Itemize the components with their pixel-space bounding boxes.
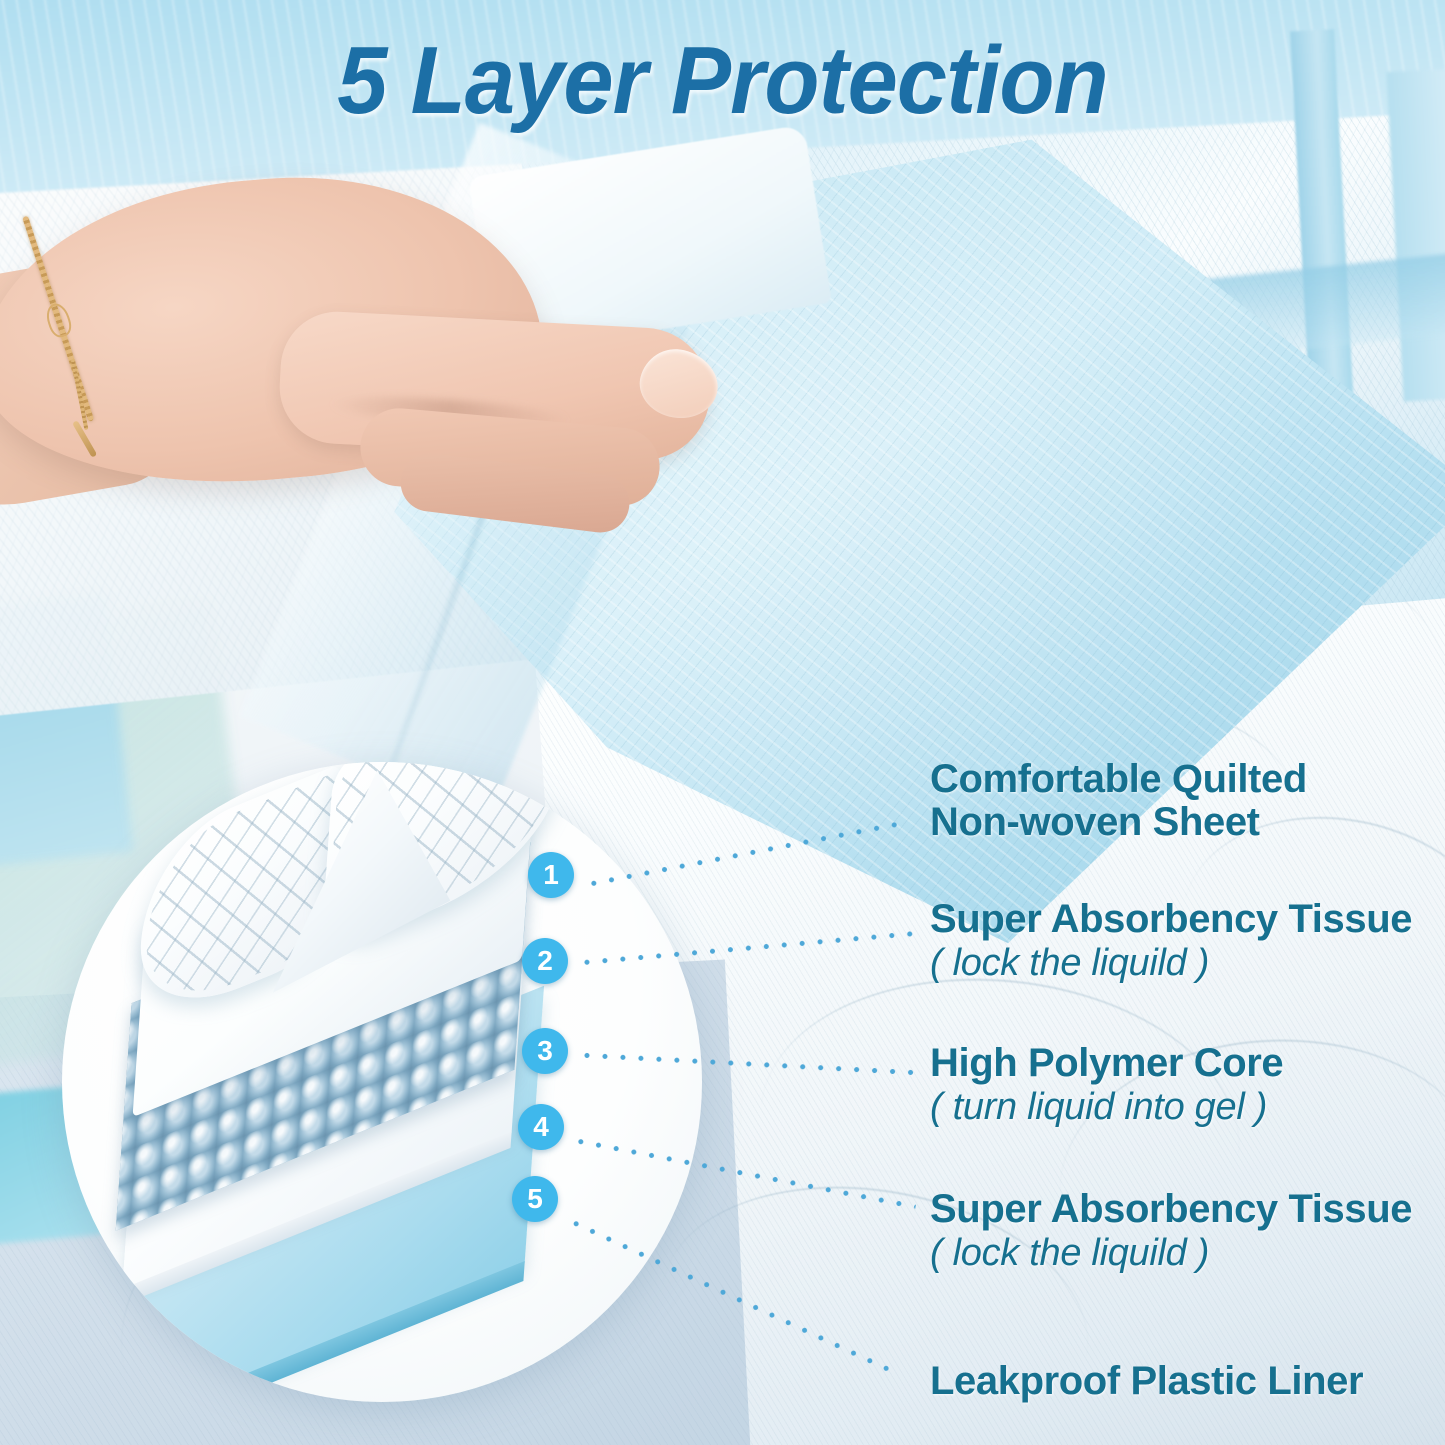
hand-holding-pad — [0, 150, 780, 570]
diamond-quilt-texture — [141, 772, 337, 1022]
layer-label-2-title: Super Absorbency Tissue — [930, 898, 1445, 941]
layer-label-4: Super Absorbency Tissue ( lock the liqui… — [930, 1188, 1445, 1276]
layer-label-column: Comfortable Quilted Non-woven Sheet Supe… — [930, 0, 1445, 1445]
layer-label-4-title: Super Absorbency Tissue — [930, 1188, 1445, 1231]
layer-label-4-subtitle: ( lock the liquild ) — [930, 1231, 1445, 1276]
layer-label-1-title: Comfortable Quilted Non-woven Sheet — [930, 758, 1445, 844]
layer-label-2: Super Absorbency Tissue ( lock the liqui… — [930, 898, 1445, 986]
layer-label-1: Comfortable Quilted Non-woven Sheet — [930, 758, 1445, 844]
layer-stack-inset-circle — [62, 762, 702, 1402]
layer-label-2-subtitle: ( lock the liquild ) — [930, 941, 1445, 986]
product-infographic: 12345 5 Layer Protection Comfortable Qui… — [0, 0, 1445, 1445]
layer-badge-5: 5 — [512, 1176, 558, 1222]
layer-label-3-title: High Polymer Core — [930, 1042, 1445, 1085]
quilted-sheet-left — [135, 763, 343, 1030]
layer-badge-4: 4 — [518, 1104, 564, 1150]
layer-badge-2: 2 — [522, 938, 568, 984]
layer-label-5: Leakproof Plastic Liner — [930, 1360, 1445, 1403]
layer-label-5-title: Leakproof Plastic Liner — [930, 1360, 1445, 1403]
page-title: 5 Layer Protection — [43, 26, 1401, 136]
layer-label-3-subtitle: ( turn liquid into gel ) — [930, 1085, 1445, 1130]
layer-badge-1: 1 — [528, 852, 574, 898]
layer-badge-3: 3 — [522, 1028, 568, 1074]
exploded-layer-stack — [62, 762, 702, 1402]
layer-label-3: High Polymer Core ( turn liquid into gel… — [930, 1042, 1445, 1130]
